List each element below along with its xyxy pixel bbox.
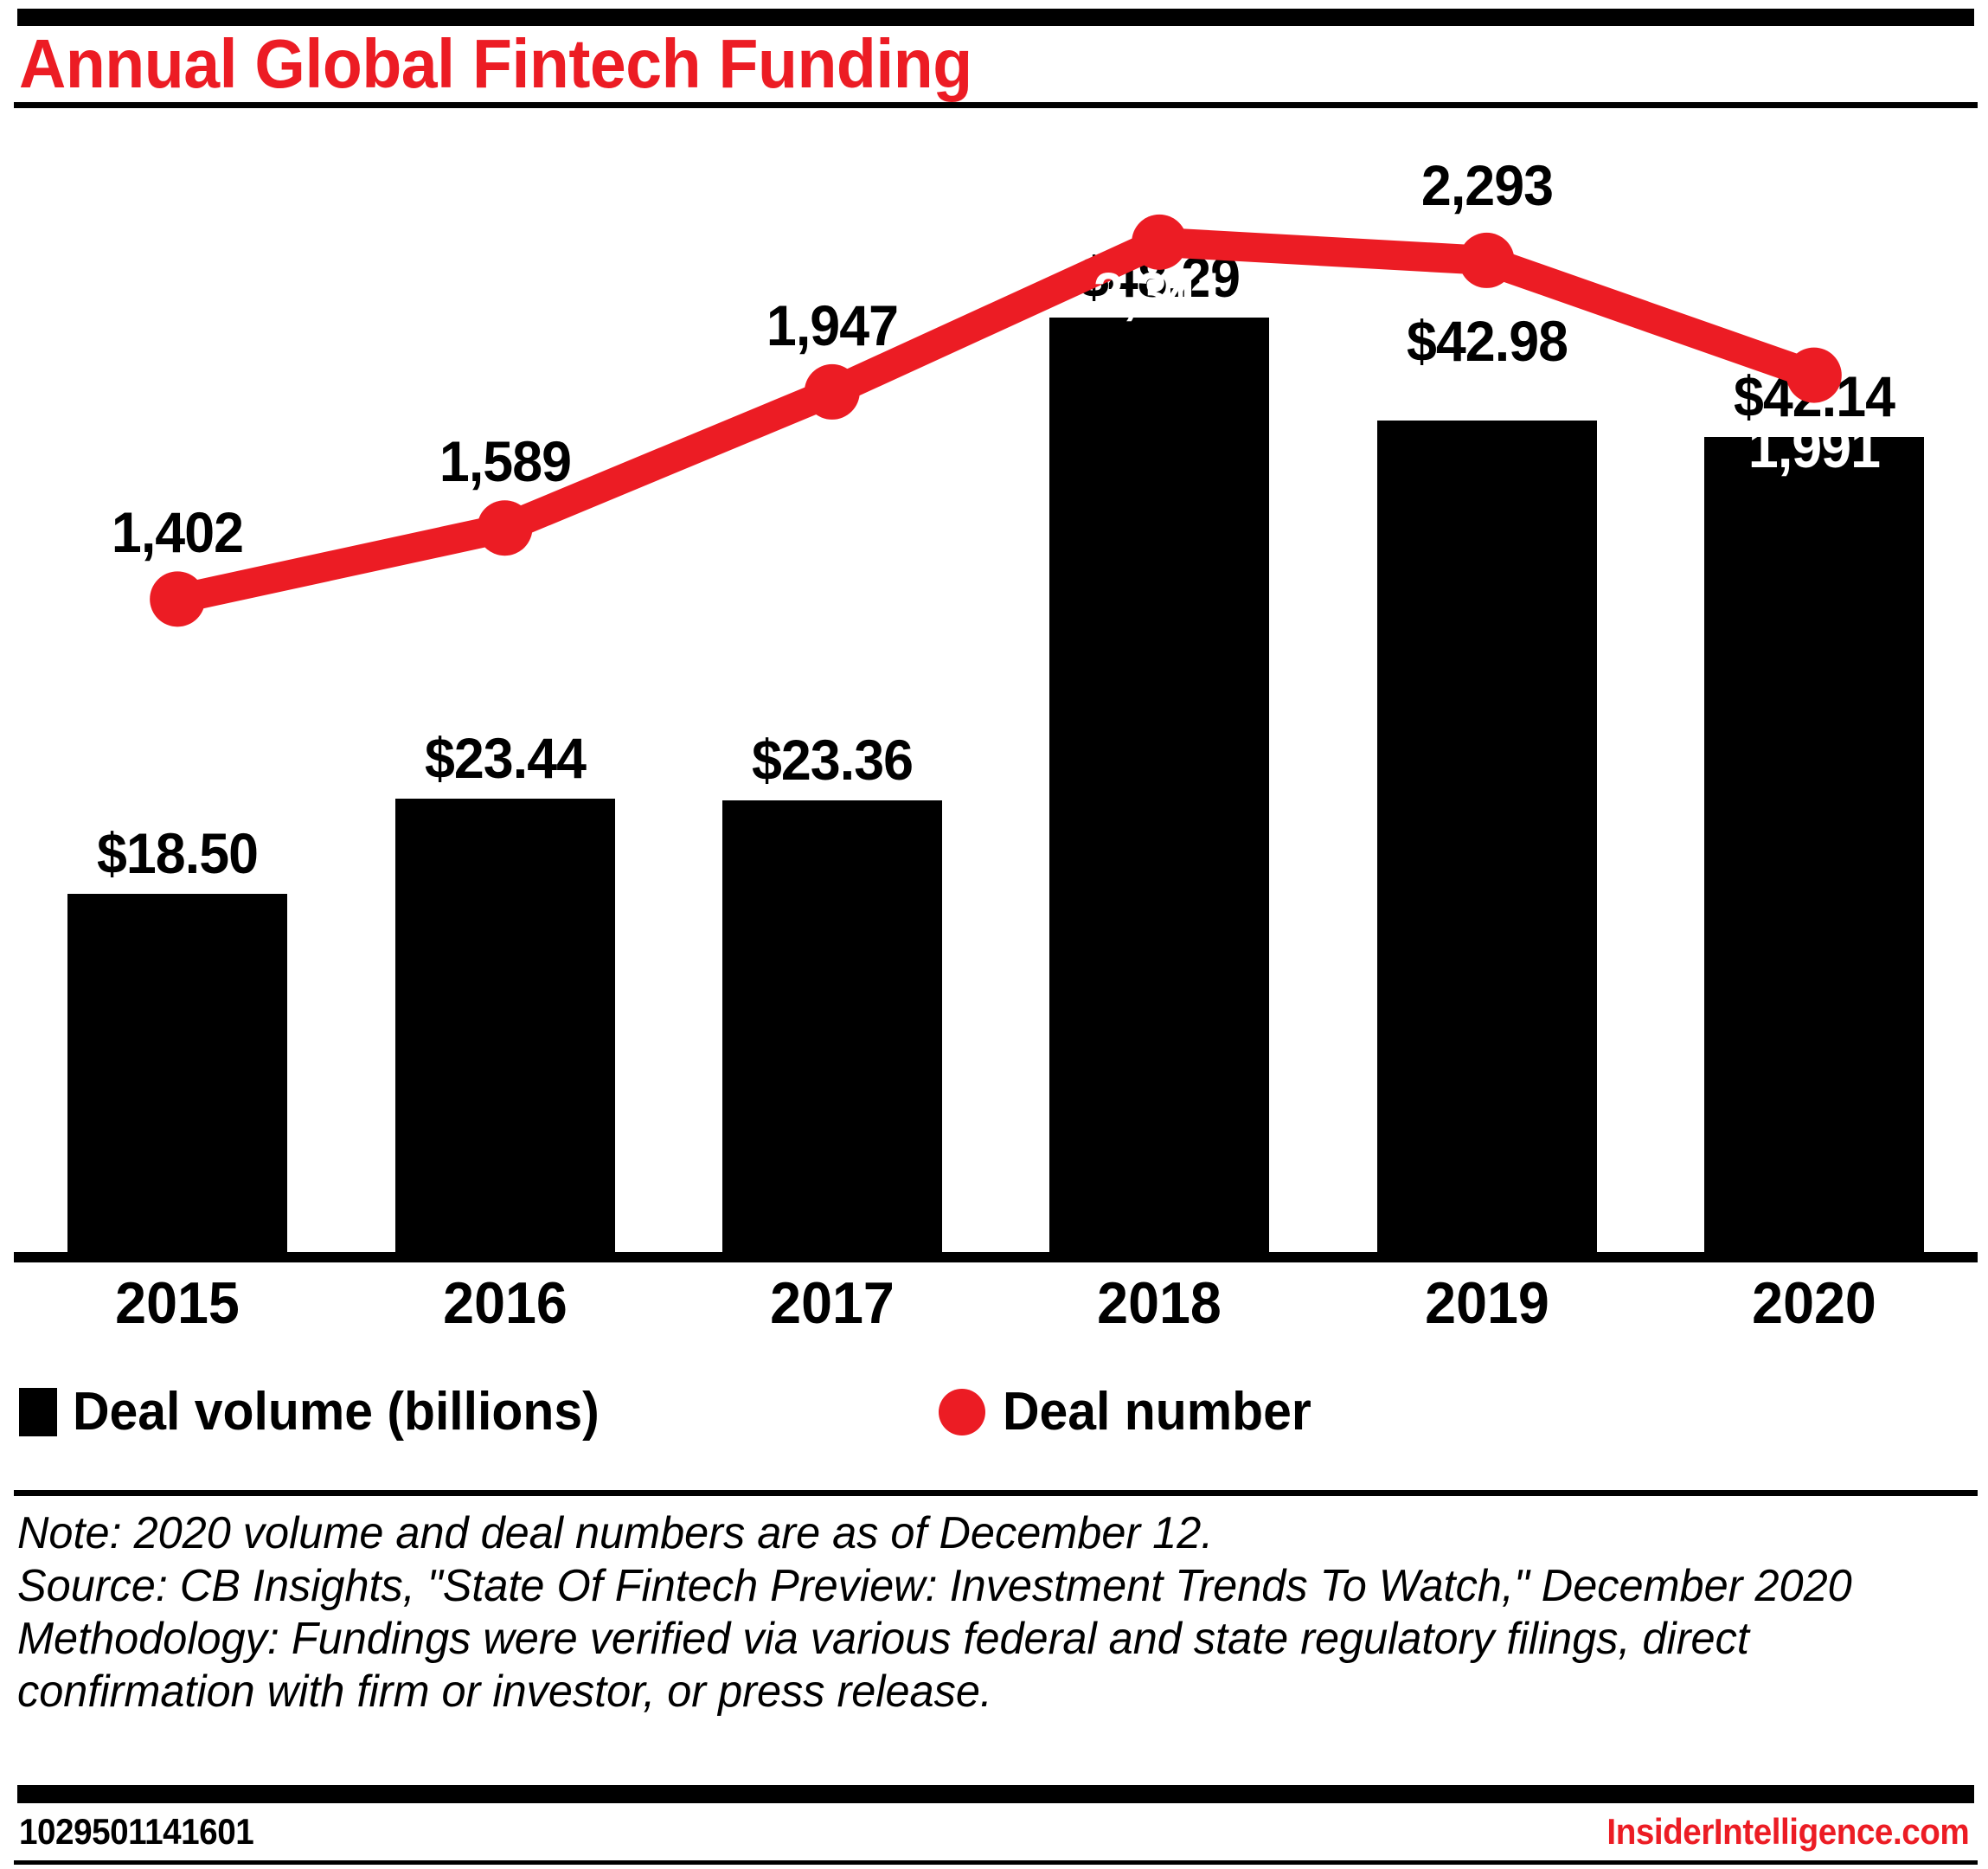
- bar-2017: [722, 800, 942, 1252]
- deal-number-label-2017: 1,947: [709, 297, 955, 354]
- source-line: Source: CB Insights, "State Of Fintech P…: [17, 1560, 1915, 1613]
- footnotes: Note: 2020 volume and deal numbers are a…: [17, 1507, 1974, 1718]
- year-label-2019: 2019: [1323, 1272, 1651, 1334]
- square-marker-icon: [19, 1388, 57, 1436]
- bar-2018: [1049, 318, 1269, 1252]
- deal-number-label-2020: 1,991: [1690, 419, 1937, 476]
- bottom-rule: [14, 1860, 1978, 1865]
- line-marker-2017: [805, 364, 860, 420]
- bar-2016: [395, 799, 615, 1252]
- legend-item-deal-number: Deal number: [939, 1384, 1328, 1440]
- year-label-2016: 2016: [341, 1272, 670, 1334]
- bar-value-label-2015: $18.50: [55, 825, 301, 882]
- footer-id: 1029501141601: [19, 1812, 253, 1852]
- x-axis-line: [14, 1252, 1978, 1262]
- year-label-2015: 2015: [13, 1272, 342, 1334]
- legend-item-deal-volume: Deal volume (billions): [19, 1384, 627, 1440]
- legend-underline-rule: [14, 1490, 1978, 1496]
- plot-area: $18.50$23.44$23.36$48.29$42.98$42.14 1,4…: [0, 108, 1988, 1263]
- bar-2020: [1704, 437, 1924, 1252]
- year-label-2020: 2020: [1650, 1272, 1978, 1334]
- line-marker-2016: [478, 500, 533, 556]
- top-rule: [17, 9, 1974, 26]
- bar-value-label-2017: $23.36: [709, 731, 955, 788]
- methodology-line: Methodology: Fundings were verified via …: [17, 1613, 1915, 1718]
- legend-label-deal-volume: Deal volume (billions): [73, 1384, 600, 1440]
- note-line: Note: 2020 volume and deal numbers are a…: [17, 1507, 1915, 1560]
- chart-page: Annual Global Fintech Funding $18.50$23.…: [0, 0, 1988, 1869]
- bar-value-label-2019: $42.98: [1363, 312, 1610, 369]
- line-marker-2019: [1459, 233, 1515, 288]
- bar-2019: [1377, 421, 1597, 1252]
- bar-value-label-2016: $23.44: [382, 729, 628, 787]
- year-label-2017: 2017: [668, 1272, 997, 1334]
- deal-number-label-2016: 1,589: [382, 433, 628, 490]
- deal-number-label-2019: 2,293: [1363, 157, 1610, 214]
- title-underline-rule: [14, 102, 1978, 108]
- deal-number-label-2018: 2,341: [1036, 264, 1283, 321]
- bar-2015: [67, 894, 287, 1252]
- footer-brand[interactable]: InsiderIntelligence.com: [1606, 1812, 1969, 1852]
- year-label-2018: 2018: [995, 1272, 1324, 1334]
- footer-rule: [17, 1785, 1974, 1803]
- line-marker-2015: [150, 571, 205, 626]
- deal-number-label-2015: 1,402: [55, 504, 301, 561]
- circle-marker-icon: [939, 1389, 985, 1435]
- deal-number-line: [0, 108, 1988, 1263]
- page-title: Annual Global Fintech Funding: [19, 28, 972, 100]
- legend-label-deal-number: Deal number: [1003, 1384, 1311, 1440]
